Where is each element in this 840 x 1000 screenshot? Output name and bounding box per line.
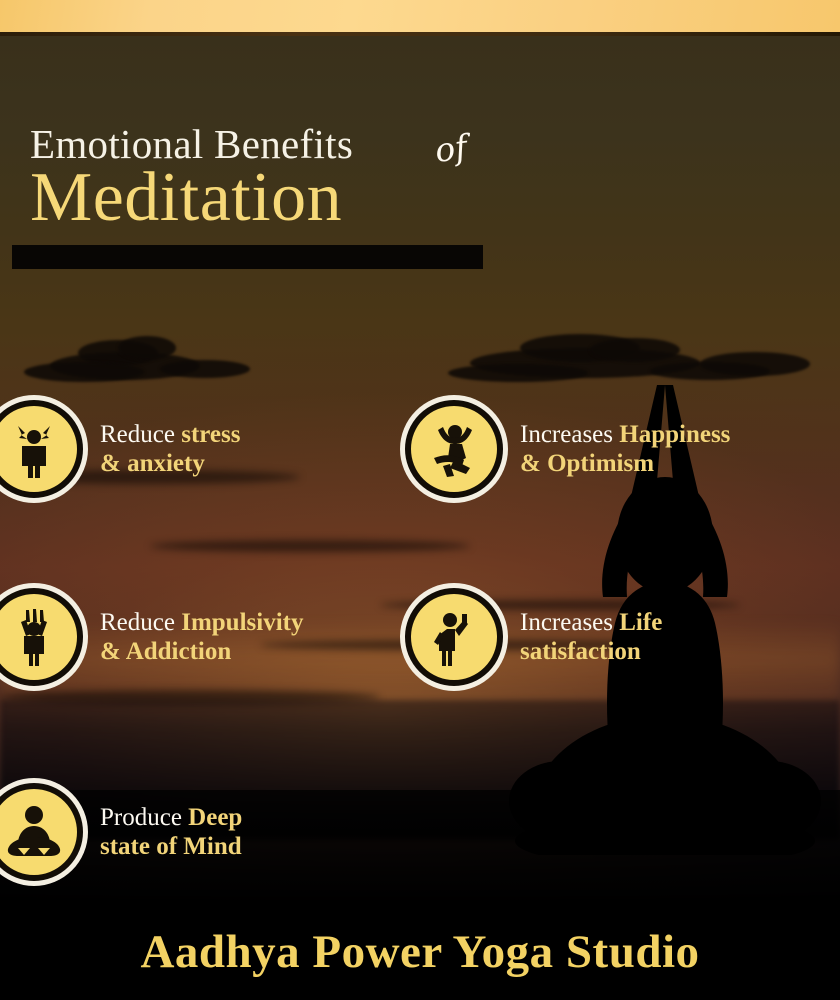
benefit-line-2: & Addiction: [100, 637, 303, 667]
benefit-line-1: Reduce Impulsivity: [100, 608, 303, 638]
poster-root: Emotional Benefits Meditation of Reduce …: [0, 0, 840, 1000]
cloud-streak: [150, 540, 470, 552]
benefit-line-2: & anxiety: [100, 449, 240, 479]
benefit-line-1-plain: Reduce: [100, 421, 181, 448]
benefit-label-block: Reduce stress & anxiety: [100, 420, 240, 479]
benefit-item-increases-happiness[interactable]: Increases Happiness & Optimism: [405, 400, 730, 498]
benefit-line-1-plain: Increases: [520, 609, 619, 636]
benefit-line-1: Increases Life: [520, 608, 662, 638]
benefit-line-1-accent: Impulsivity: [181, 609, 303, 636]
benefit-line-1-accent: stress: [181, 421, 240, 448]
benefit-line-1: Produce Deep: [100, 803, 242, 833]
meditating-person-icon: [0, 783, 83, 881]
heading-connector-of: of: [432, 127, 469, 170]
benefit-item-reduce-stress[interactable]: Reduce stress & anxiety: [0, 400, 240, 498]
heading-line-2-row: Meditation of: [30, 167, 550, 245]
studio-name: Aadhya Power Yoga Studio: [0, 925, 840, 979]
heading-block: Emotional Benefits Meditation of: [30, 124, 550, 245]
stressed-person-icon: [0, 400, 83, 498]
person-waving-icon: [405, 588, 503, 686]
cloud-shape: [700, 352, 810, 376]
benefit-line-1: Increases Happiness: [520, 420, 730, 450]
benefit-line-1: Reduce stress: [100, 420, 240, 450]
top-gold-bar: [0, 0, 840, 32]
benefit-line-1-accent: Deep: [188, 804, 242, 831]
benefit-line-2: satisfaction: [520, 637, 662, 667]
benefit-line-2: & Optimism: [520, 449, 730, 479]
heading-underline-bar: [12, 245, 483, 269]
benefit-line-1-accent: Happiness: [619, 421, 730, 448]
cloud-shape: [590, 338, 680, 362]
cloud-shape: [24, 362, 144, 382]
benefit-label-block: Produce Deep state of Mind: [100, 803, 242, 862]
benefit-line-2: state of Mind: [100, 832, 242, 862]
benefit-item-increases-life-satisfaction[interactable]: Increases Life satisfaction: [405, 588, 662, 686]
cloud-shape: [448, 364, 588, 382]
benefit-line-1-plain: Increases: [520, 421, 619, 448]
cloud-shape: [118, 336, 176, 360]
benefit-item-produce-deep-state-of-mind[interactable]: Produce Deep state of Mind: [0, 783, 242, 881]
top-bar-divider: [0, 32, 840, 36]
benefit-line-1-plain: Produce: [100, 804, 188, 831]
person-arms-raised-icon: [0, 588, 83, 686]
benefit-line-1-accent: Life: [619, 609, 662, 636]
cloud-shape: [160, 360, 250, 378]
benefit-label-block: Reduce Impulsivity & Addiction: [100, 608, 303, 667]
benefit-line-1-plain: Reduce: [100, 609, 181, 636]
benefit-label-block: Increases Life satisfaction: [520, 608, 662, 667]
benefit-label-block: Increases Happiness & Optimism: [520, 420, 730, 479]
heading-line-2: Meditation: [30, 163, 342, 233]
jumping-person-icon: [405, 400, 503, 498]
benefit-item-reduce-impulsivity[interactable]: Reduce Impulsivity & Addiction: [0, 588, 303, 686]
